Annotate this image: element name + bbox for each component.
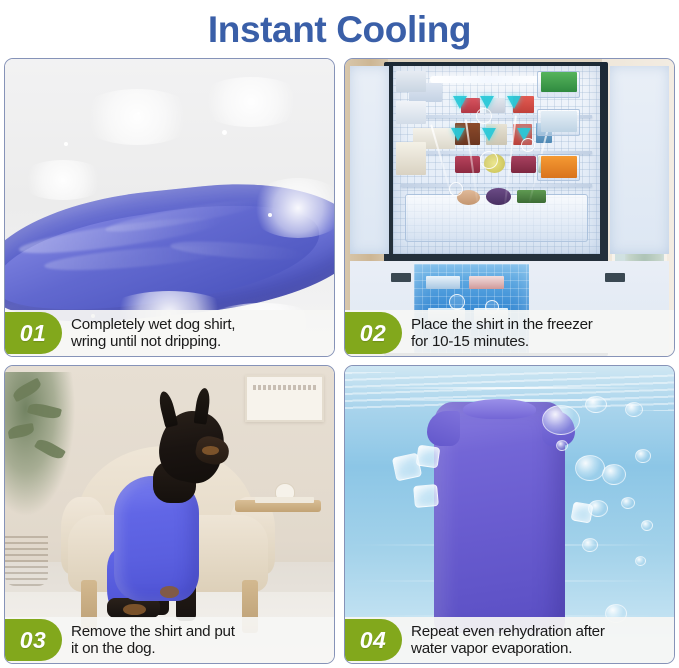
step-01-caption: 01 Completely wet dog shirt, wring until… bbox=[5, 310, 334, 356]
step-02-text: Place the shirt in the freezer for 10-15… bbox=[402, 316, 674, 351]
door-shelf-left bbox=[396, 71, 426, 92]
step-number-badge: 02 bbox=[344, 312, 402, 354]
air-bubble bbox=[635, 449, 651, 463]
door-bottles bbox=[541, 111, 577, 132]
step-card-02: 02 Place the shirt in the freezer for 10… bbox=[344, 58, 675, 357]
fridge-door-right bbox=[610, 66, 669, 253]
step-card-03: 03 Remove the shirt and put it on the do… bbox=[4, 365, 335, 664]
airflow-ring bbox=[449, 294, 465, 310]
step-03-text: Remove the shirt and put it on the dog. bbox=[62, 623, 334, 658]
steps-grid: 01 Completely wet dog shirt, wring until… bbox=[4, 58, 675, 664]
caption-line-2: it on the dog. bbox=[71, 640, 328, 658]
step-number-badge: 04 bbox=[344, 619, 402, 661]
fridge-shelf bbox=[401, 184, 592, 187]
fridge-light bbox=[430, 76, 550, 83]
door-carton bbox=[541, 72, 577, 91]
cold-airflow-arrow bbox=[451, 128, 465, 141]
ice-cube bbox=[413, 484, 439, 508]
freezer-handle bbox=[605, 273, 625, 282]
caption-line-2: wring until not dripping. bbox=[71, 333, 328, 351]
step-04-caption: 04 Repeat even rehydration after water v… bbox=[345, 617, 674, 663]
air-bubble bbox=[556, 440, 568, 451]
dog-tan-marking bbox=[160, 586, 180, 598]
freezer-handle bbox=[391, 273, 411, 282]
caption-line-1: Remove the shirt and put bbox=[71, 623, 235, 640]
fridge-door-left bbox=[350, 66, 389, 253]
door-shelf-left bbox=[396, 142, 426, 175]
caption-line-1: Place the shirt in the freezer bbox=[411, 316, 593, 333]
water-droplet bbox=[64, 142, 68, 146]
caption-line-1: Completely wet dog shirt, bbox=[71, 316, 235, 333]
caption-line-2: water vapor evaporation. bbox=[411, 640, 668, 658]
air-bubble bbox=[588, 500, 608, 517]
air-bubble bbox=[602, 464, 626, 485]
water-splash bbox=[196, 77, 306, 127]
step-number-badge: 03 bbox=[4, 619, 62, 661]
water-splash bbox=[77, 89, 197, 145]
door-shelf-left bbox=[396, 101, 426, 125]
step-card-01: 01 Completely wet dog shirt, wring until… bbox=[4, 58, 335, 357]
air-bubble bbox=[575, 455, 605, 481]
air-bubble bbox=[585, 396, 607, 413]
airflow-ring bbox=[521, 138, 535, 152]
step-04-text: Repeat even rehydration after water vapo… bbox=[402, 623, 674, 658]
berries-pack bbox=[511, 156, 536, 173]
cold-airflow-arrow bbox=[453, 96, 467, 109]
step-03-caption: 03 Remove the shirt and put it on the do… bbox=[5, 617, 334, 663]
air-bubble bbox=[542, 405, 580, 435]
berries-pack bbox=[455, 156, 480, 173]
step-01-text: Completely wet dog shirt, wring until no… bbox=[62, 316, 334, 351]
air-bubble bbox=[625, 402, 643, 417]
frozen-pack bbox=[426, 276, 461, 288]
wall-art-frame bbox=[245, 375, 324, 423]
water-droplet bbox=[222, 130, 227, 135]
caption-line-1: Repeat even rehydration after bbox=[411, 623, 605, 640]
water-splash bbox=[18, 160, 108, 200]
step-card-04: 04 Repeat even rehydration after water v… bbox=[344, 365, 675, 664]
air-bubble bbox=[582, 538, 598, 552]
shirt-collar bbox=[463, 399, 535, 420]
step-number-badge: 01 bbox=[4, 312, 62, 354]
caption-line-2: for 10-15 minutes. bbox=[411, 333, 668, 351]
water-splash bbox=[248, 178, 334, 238]
air-bubble bbox=[635, 556, 646, 566]
frozen-pack bbox=[469, 276, 504, 288]
dog-ear-left bbox=[157, 390, 178, 428]
door-juice bbox=[541, 156, 577, 178]
books-stack bbox=[255, 497, 314, 503]
cold-airflow-arrow bbox=[507, 96, 521, 109]
step-02-caption: 02 Place the shirt in the freezer for 10… bbox=[345, 310, 674, 356]
airflow-ring bbox=[480, 151, 498, 169]
page-title: Instant Cooling bbox=[0, 0, 679, 56]
air-bubble bbox=[621, 497, 635, 509]
cold-airflow-arrow bbox=[482, 128, 496, 141]
ice-cube bbox=[416, 445, 441, 469]
dog-tan-marking bbox=[202, 446, 218, 455]
shirt-shoulder-left bbox=[427, 411, 460, 447]
water-ripple bbox=[345, 387, 674, 389]
air-bubble bbox=[641, 520, 653, 531]
airflow-ring bbox=[476, 108, 492, 124]
plant-basket bbox=[5, 532, 48, 585]
instant-cooling-infographic: Instant Cooling bbox=[0, 0, 679, 668]
wall-art-text bbox=[253, 385, 316, 390]
